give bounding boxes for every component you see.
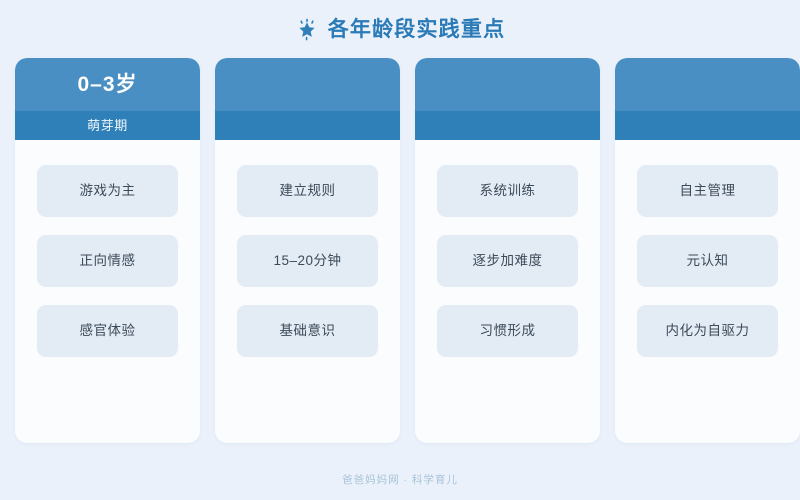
age-stage-card[interactable]: 建立规则 15–20分钟 基础意识 (215, 58, 400, 443)
practice-item-label: 元认知 (687, 254, 729, 268)
practice-item[interactable]: 习惯形成 (437, 305, 578, 357)
card-header-title-band (215, 58, 400, 111)
card-header (215, 58, 400, 140)
age-stage-card-list: 0–3岁 萌芽期 游戏为主 正向情感 感官体验 (15, 58, 800, 443)
practice-item-label: 习惯形成 (480, 324, 536, 338)
card-header: 0–3岁 萌芽期 (15, 58, 200, 140)
page-title: 各年龄段实践重点 (328, 19, 506, 40)
card-title: 0–3岁 (77, 74, 137, 95)
practice-item-label: 15–20分钟 (273, 254, 341, 268)
practice-item-label: 游戏为主 (80, 184, 136, 198)
footer: 爸爸妈妈网 · 科学育儿 (0, 470, 800, 488)
card-body: 系统训练 逐步加难度 习惯形成 (415, 140, 600, 357)
practice-item[interactable]: 内化为自驱力 (637, 305, 778, 357)
practice-item[interactable]: 逐步加难度 (437, 235, 578, 287)
practice-item-label: 内化为自驱力 (666, 324, 750, 338)
card-body: 游戏为主 正向情感 感官体验 (15, 140, 200, 357)
practice-item-label: 系统训练 (480, 184, 536, 198)
age-stage-card[interactable]: 0–3岁 萌芽期 游戏为主 正向情感 感官体验 (15, 58, 200, 443)
page-header: 各年龄段实践重点 (0, 0, 800, 58)
sparkle-star-icon (295, 18, 319, 42)
practice-item[interactable]: 15–20分钟 (237, 235, 378, 287)
card-subtitle: 萌芽期 (87, 119, 128, 132)
card-header-subtitle-band (415, 111, 600, 140)
practice-item[interactable]: 系统训练 (437, 165, 578, 217)
practice-item[interactable]: 游戏为主 (37, 165, 178, 217)
card-header-subtitle-band (615, 111, 800, 140)
practice-item-label: 自主管理 (680, 184, 736, 198)
card-body: 自主管理 元认知 内化为自驱力 (615, 140, 800, 357)
practice-item[interactable]: 感官体验 (37, 305, 178, 357)
card-header-subtitle-band (215, 111, 400, 140)
card-body: 建立规则 15–20分钟 基础意识 (215, 140, 400, 357)
practice-item[interactable]: 基础意识 (237, 305, 378, 357)
practice-item[interactable]: 自主管理 (637, 165, 778, 217)
card-header-title-band: 0–3岁 (15, 58, 200, 111)
practice-item-label: 建立规则 (280, 184, 336, 198)
footer-text: 爸爸妈妈网 · 科学育儿 (342, 474, 458, 486)
practice-item-label: 感官体验 (80, 324, 136, 338)
age-stage-card[interactable]: 系统训练 逐步加难度 习惯形成 (415, 58, 600, 443)
practice-item[interactable]: 建立规则 (237, 165, 378, 217)
practice-item-label: 基础意识 (280, 324, 336, 338)
card-header (415, 58, 600, 140)
practice-item[interactable]: 元认知 (637, 235, 778, 287)
practice-item-label: 正向情感 (80, 254, 136, 268)
card-header (615, 58, 800, 140)
practice-item[interactable]: 正向情感 (37, 235, 178, 287)
practice-item-label: 逐步加难度 (473, 254, 543, 268)
age-stage-card[interactable]: 自主管理 元认知 内化为自驱力 (615, 58, 800, 443)
card-header-title-band (615, 58, 800, 111)
card-header-title-band (415, 58, 600, 111)
card-header-subtitle-band: 萌芽期 (15, 111, 200, 140)
